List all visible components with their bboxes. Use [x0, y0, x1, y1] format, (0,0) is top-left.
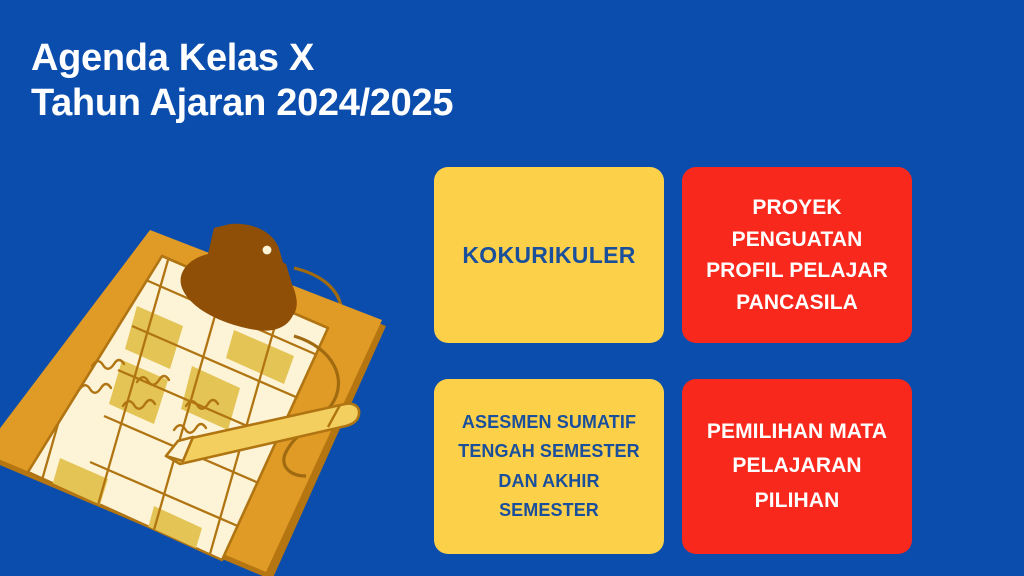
slide-canvas: Agenda Kelas X Tahun Ajaran 2024/2025 — [0, 0, 1024, 576]
clipboard-icon — [0, 208, 414, 576]
page-title: Agenda Kelas X Tahun Ajaran 2024/2025 — [31, 36, 651, 126]
clipboard-illustration — [0, 208, 414, 576]
title-line-2: Tahun Ajaran 2024/2025 — [31, 81, 651, 126]
agenda-card-grid: KOKURIKULER PROYEK PENGUATAN PROFIL PELA… — [434, 167, 912, 554]
card-asesmen-sumatif-label: ASESMEN SUMATIF TENGAH SEMESTER DAN AKHI… — [446, 408, 652, 525]
card-asesmen-sumatif[interactable]: ASESMEN SUMATIF TENGAH SEMESTER DAN AKHI… — [434, 379, 664, 554]
card-proyek-penguatan-label: PROYEK PENGUATAN PROFIL PELAJAR PANCASIL… — [694, 192, 900, 318]
card-pemilihan-label: PEMILIHAN MATA PELAJARAN PILIHAN — [694, 415, 900, 517]
title-line-1: Agenda Kelas X — [31, 36, 651, 81]
card-kokurikuler-label: KOKURIKULER — [462, 239, 635, 272]
card-kokurikuler[interactable]: KOKURIKULER — [434, 167, 664, 343]
clip-hole — [263, 246, 272, 255]
card-pemilihan-mata-pelajaran-pilihan[interactable]: PEMILIHAN MATA PELAJARAN PILIHAN — [682, 379, 912, 554]
card-proyek-penguatan-profil-pelajar-pancasila[interactable]: PROYEK PENGUATAN PROFIL PELAJAR PANCASIL… — [682, 167, 912, 343]
